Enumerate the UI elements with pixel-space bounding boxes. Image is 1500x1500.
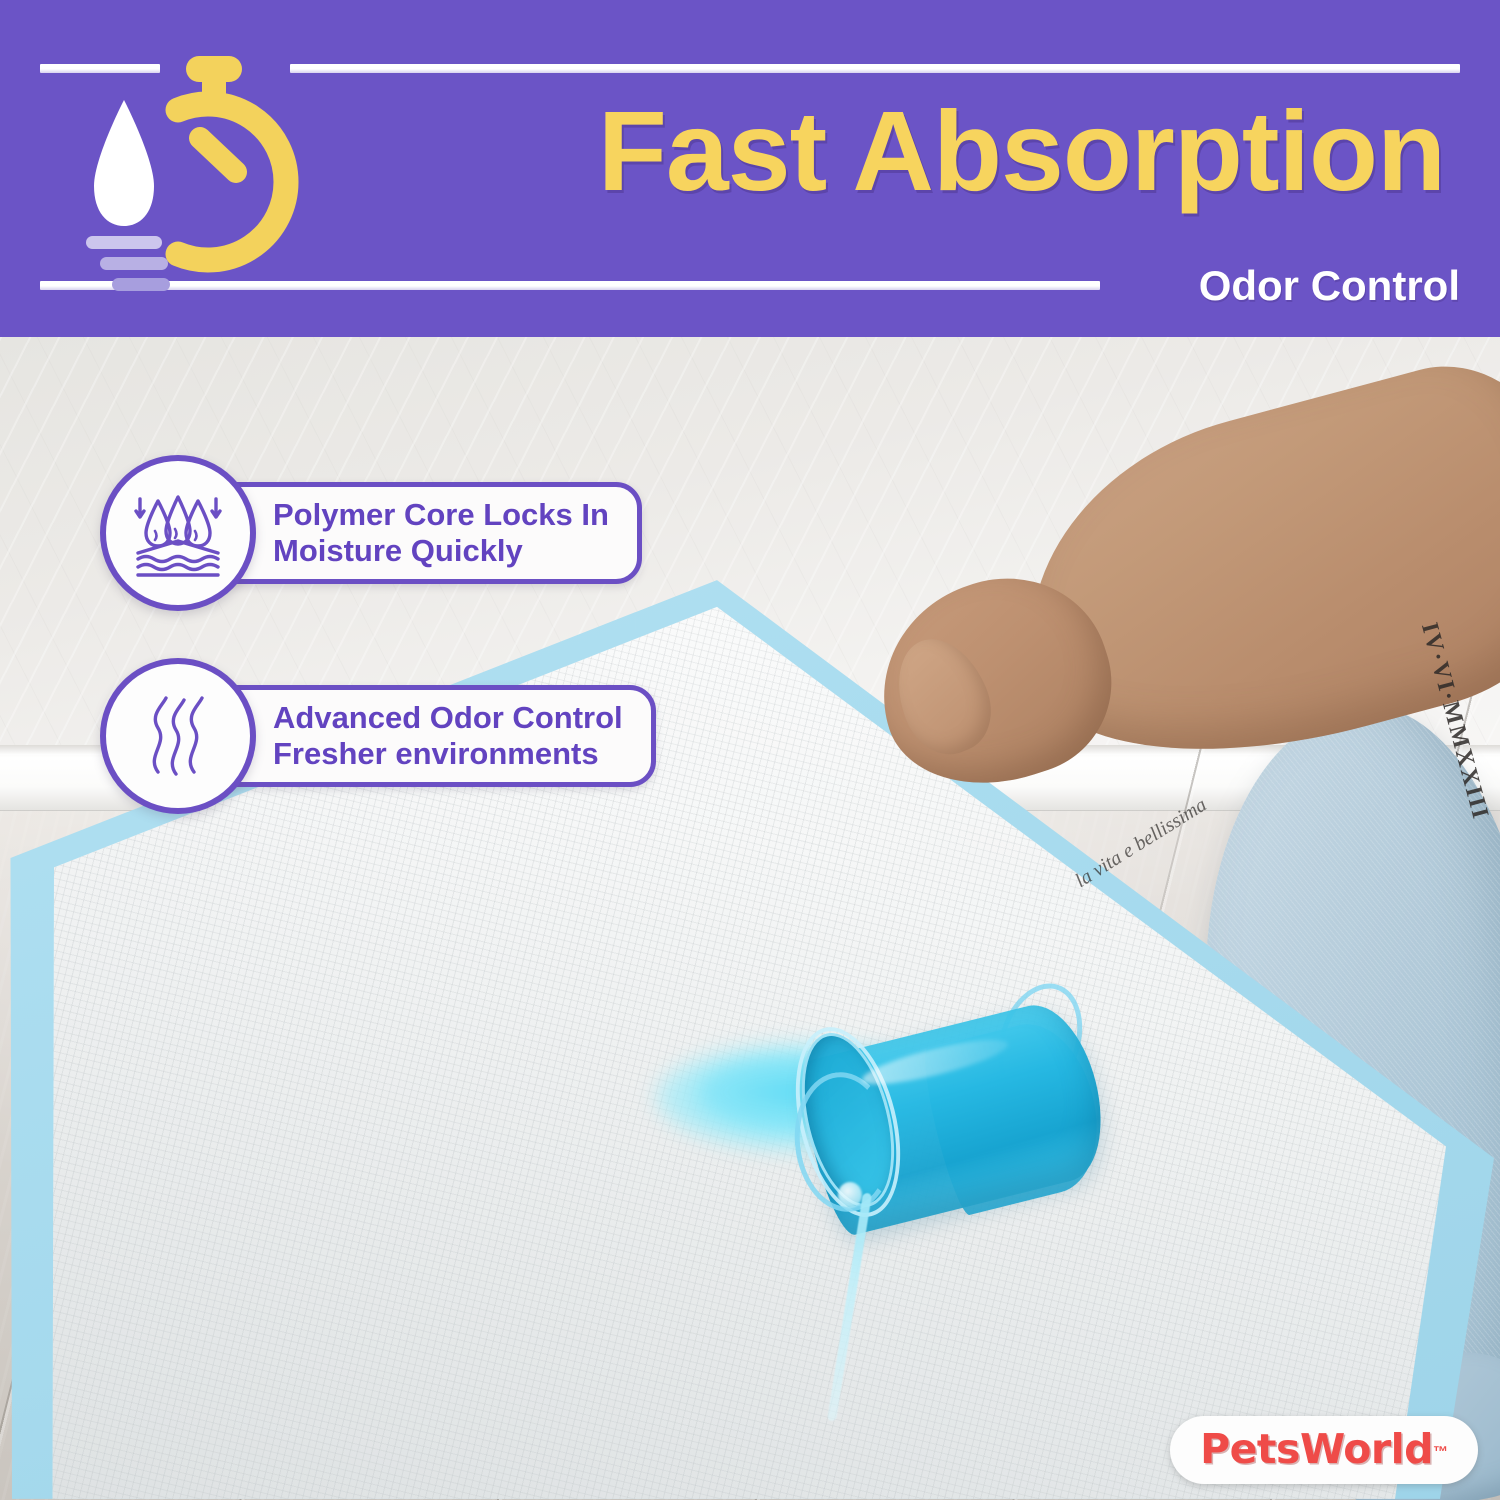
feature-callout-text-box: Polymer Core Locks In Moisture Quickly	[190, 482, 642, 584]
feature-2-line-2: Fresher environments	[273, 736, 599, 771]
stopwatch-droplet-icon	[78, 40, 338, 300]
brand-logo: PetsWorld™	[1170, 1416, 1478, 1484]
header-banner: Fast Absorption Odor Control	[0, 0, 1500, 337]
brand-name: PetsWorld	[1200, 1425, 1433, 1473]
pour-stream-head	[838, 1182, 862, 1208]
page-title: Fast Absorption	[385, 95, 1445, 208]
feature-1-line-2: Moisture Quickly	[273, 533, 523, 568]
feature-callout-polymer-core: Polymer Core Locks In Moisture Quickly	[100, 455, 642, 611]
trademark-symbol: ™	[1433, 1444, 1448, 1461]
header-divider-top-right	[290, 64, 1460, 73]
feature-2-line-1: Advanced Odor Control	[273, 700, 623, 735]
product-feature-image: Fast Absorption Odor Control IV·VI·MMXXI…	[0, 0, 1500, 1500]
feature-callout-text-box: Advanced Odor Control Fresher environmen…	[190, 685, 656, 787]
absorbing-droplets-icon	[100, 455, 256, 611]
feature-callout-odor-control: Advanced Odor Control Fresher environmen…	[100, 658, 656, 814]
odor-waves-icon	[100, 658, 256, 814]
feature-1-line-1: Polymer Core Locks In	[273, 497, 609, 532]
page-subtitle: Odor Control	[1199, 262, 1460, 310]
